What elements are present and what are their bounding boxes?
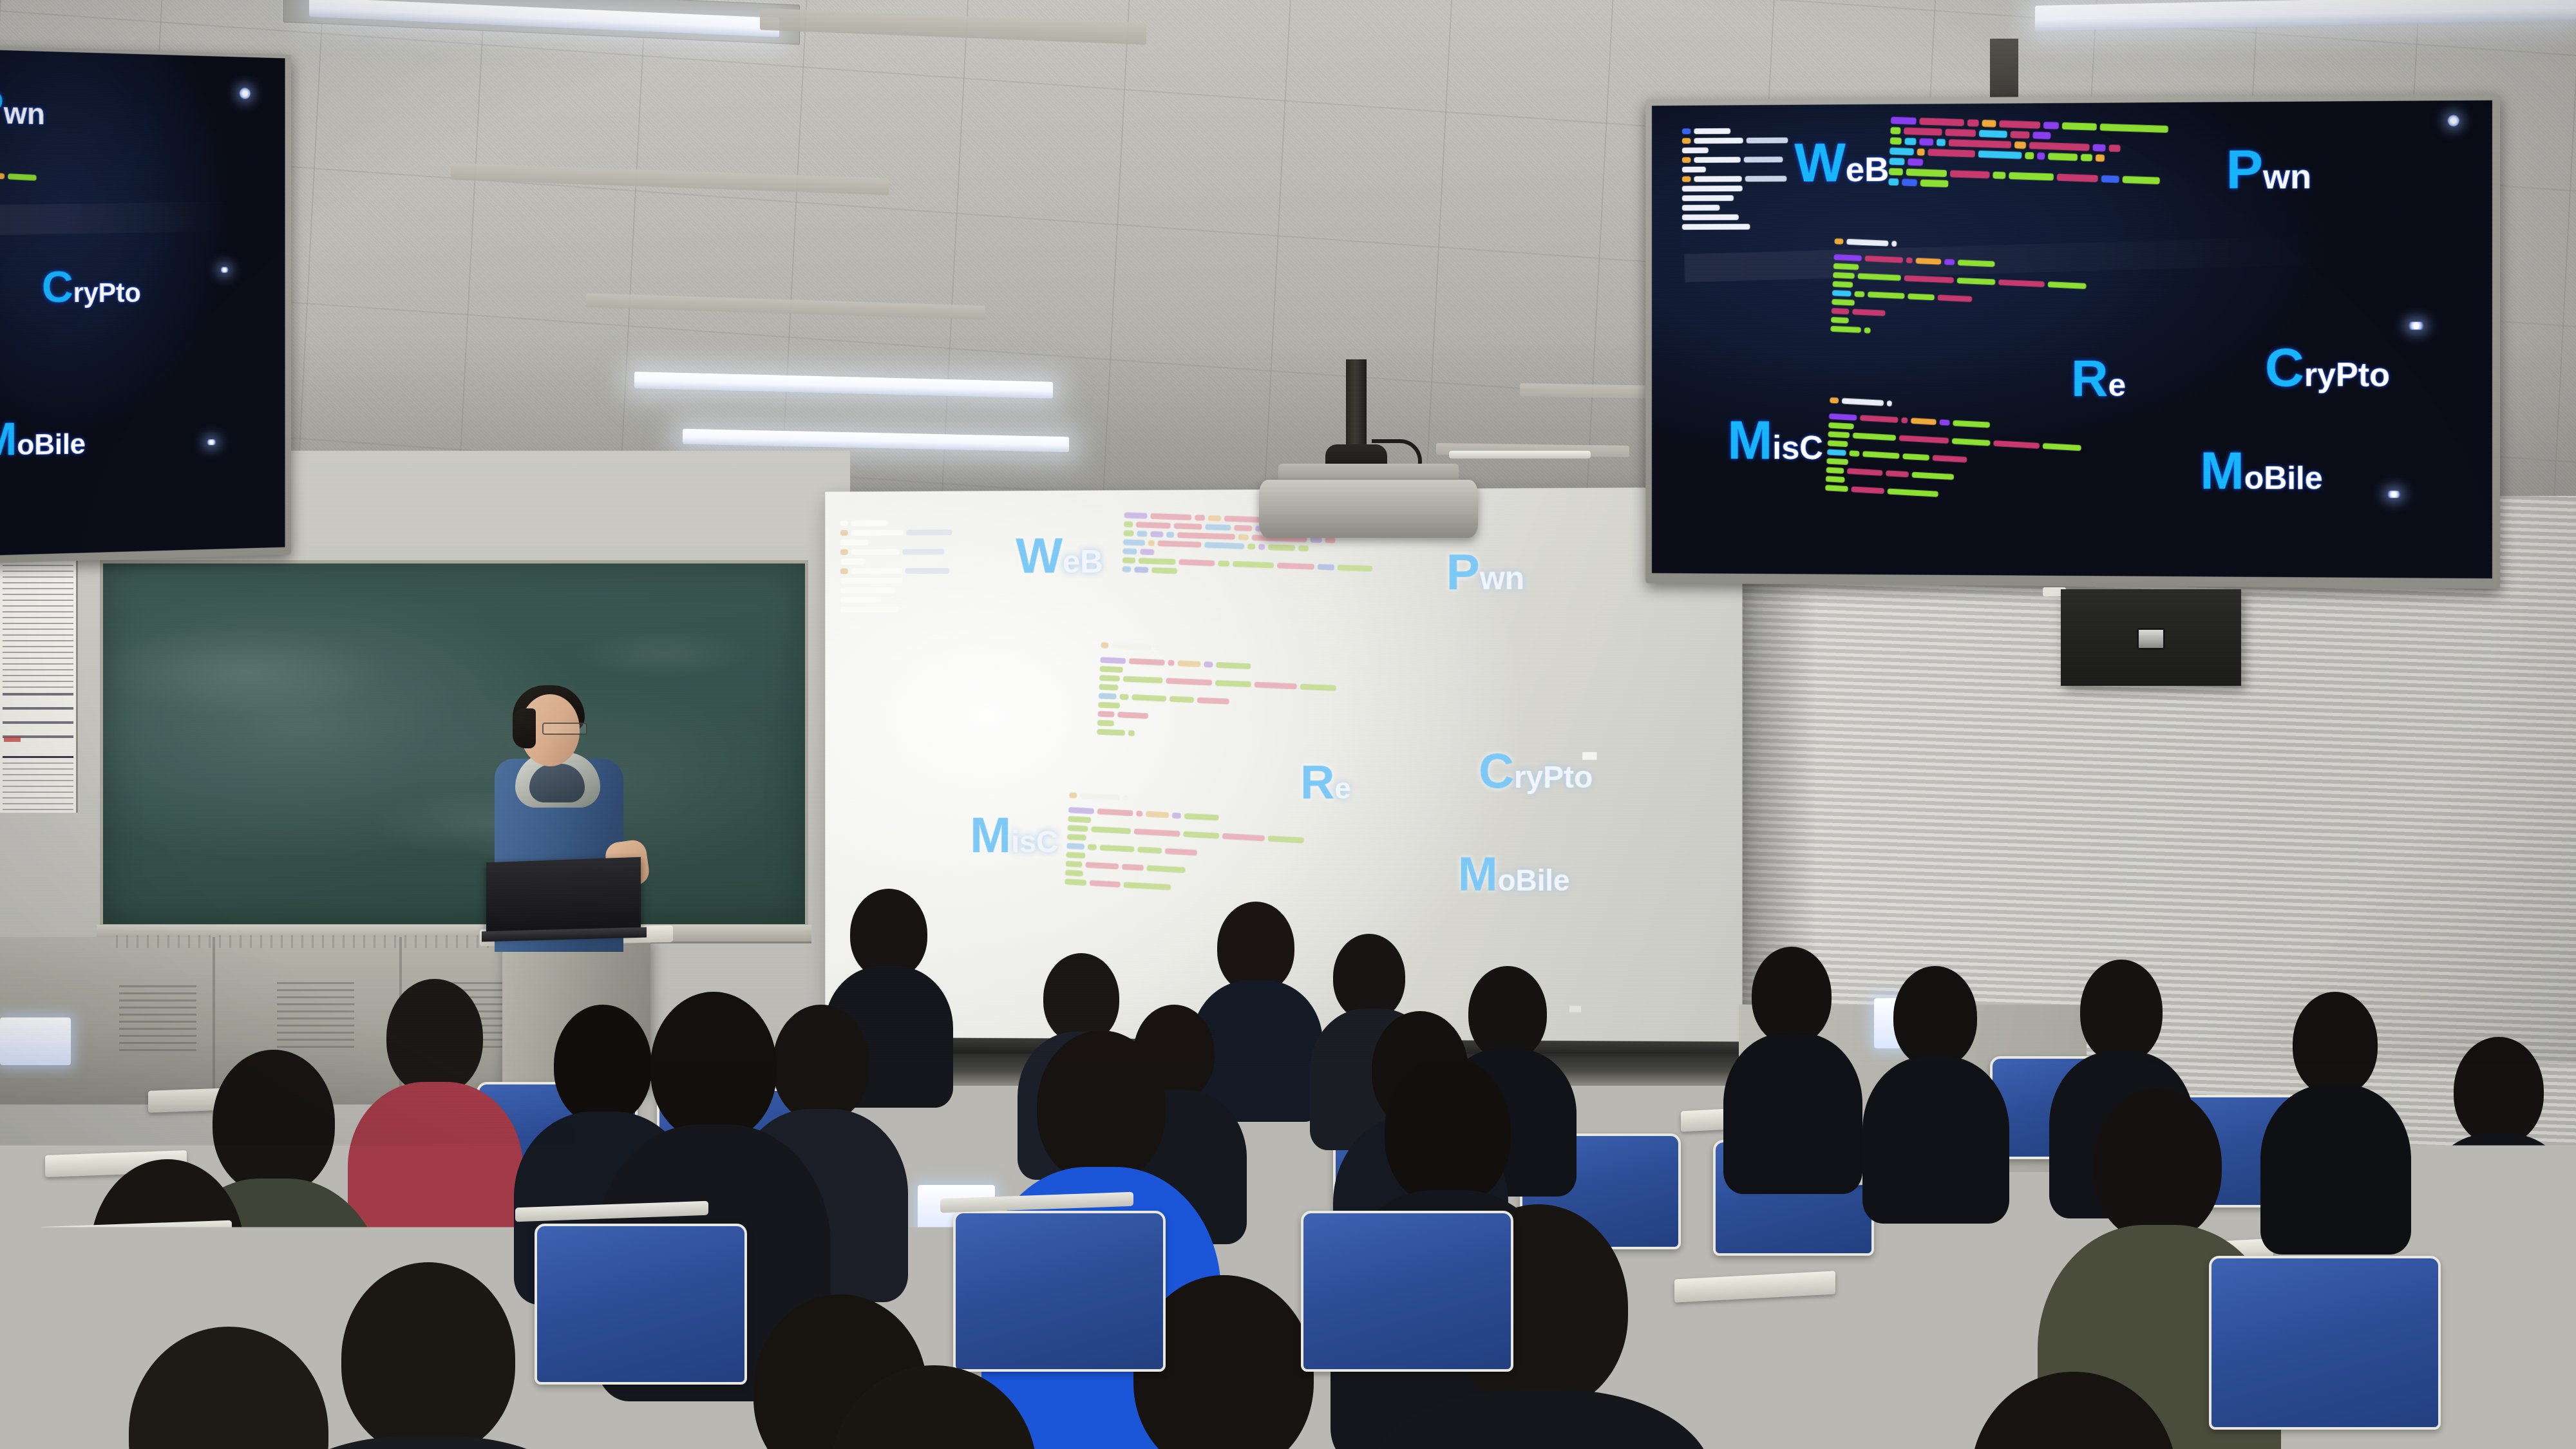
- poster-body-text-2: [3, 762, 73, 810]
- right-tv-cursor-mark-2: [2387, 491, 2400, 498]
- poster-body-text: [3, 559, 73, 688]
- left-tv-cursor-mark-2: [207, 439, 216, 445]
- slide-sidebar-list: [840, 520, 955, 616]
- right-tv-category-re: Re: [2071, 353, 2126, 404]
- right-tv-slide: WeB Pwn: [1652, 100, 2492, 578]
- list-item: [840, 597, 955, 603]
- slide-category-misc: MisC: [970, 810, 1058, 860]
- list-item: [840, 558, 955, 565]
- screen-highlight-dot: [240, 88, 251, 99]
- left-tv-code-fragment: [0, 171, 40, 184]
- list-item: [840, 587, 955, 594]
- front-rail: [116, 935, 528, 948]
- left-tv-category-pwn: Pwn: [0, 84, 45, 133]
- list-item: [1682, 223, 1791, 229]
- list-item: [840, 568, 955, 574]
- seat: [2209, 1256, 2441, 1430]
- slide-category-re: Re: [1300, 759, 1350, 806]
- list-item: [840, 549, 955, 555]
- left-tv-category-mobile: MoBile: [0, 415, 86, 462]
- desk-tablet: [1674, 1271, 1835, 1302]
- right-tv-code-block-2: [1830, 238, 2091, 346]
- left-tv-cursor-mark: [221, 267, 229, 273]
- right-tv-category-crypto: CryPto: [2265, 340, 2390, 395]
- right-tv-code-block-3: [1825, 397, 2087, 508]
- seat: [1301, 1211, 1513, 1372]
- right-tv-category-misc: MisC: [1727, 413, 1823, 468]
- right-tv-sidebar-list: [1682, 128, 1791, 234]
- right-tv-category-mobile: MoBile: [2200, 445, 2322, 498]
- ceiling-conduit: [1449, 451, 1591, 459]
- right-tv-bezel: WeB Pwn: [1645, 94, 2500, 589]
- left-tv-screen[interactable]: Pwn CryPto MoBile: [0, 50, 285, 556]
- left-tv-category-crypto: CryPto: [42, 265, 141, 309]
- left-tv-bezel: Pwn CryPto MoBile: [0, 46, 291, 563]
- list-item: [1682, 185, 1791, 192]
- cabinet-vent: [277, 982, 354, 1053]
- cabinet-vent: [119, 985, 196, 1056]
- screen-glare: [0, 201, 232, 235]
- list-item: [840, 529, 955, 536]
- seat: [535, 1224, 747, 1385]
- slide-category-web: WeB: [1016, 530, 1103, 580]
- audience-laptop-screen: [0, 1018, 71, 1065]
- seat: [953, 1211, 1166, 1372]
- right-tv-screen[interactable]: WeB Pwn: [1652, 100, 2492, 578]
- right-tv-highlight-dot: [2448, 115, 2459, 126]
- list-item: [840, 578, 955, 584]
- poster-divider: [3, 756, 73, 758]
- left-tv-slide: Pwn CryPto MoBile: [0, 50, 285, 556]
- list-item: [840, 539, 955, 545]
- glasses-icon: [542, 723, 587, 735]
- presenter-collar-shadow: [529, 764, 585, 802]
- slide-category-crypto: CryPto: [1479, 747, 1593, 796]
- slide-category-pwn: Pwn: [1446, 546, 1524, 597]
- list-item: [1682, 137, 1791, 144]
- chalkboard: [100, 560, 808, 927]
- podium-laptop-screen[interactable]: [486, 857, 641, 936]
- cursor-mark-2: [1569, 1006, 1581, 1012]
- right-tv-category-web: WeB: [1794, 135, 1889, 191]
- list-item: [1682, 147, 1791, 153]
- cabinet-seam: [213, 937, 215, 1104]
- right-tv-category-pwn: Pwn: [2226, 142, 2311, 198]
- list-item: [840, 520, 955, 526]
- presenter-hair-side: [513, 708, 536, 748]
- poster-red-mark: [4, 737, 21, 742]
- list-item: [1682, 128, 1791, 135]
- slide-category-mobile: MoBile: [1458, 850, 1570, 898]
- slide-code-block-2: [1097, 642, 1341, 748]
- list-item: [1682, 176, 1791, 182]
- list-item: [1682, 166, 1791, 173]
- slide-code-block-3: [1065, 792, 1309, 901]
- right-tv-code-block-1: [1888, 117, 2172, 198]
- ceiling-projector: [1259, 480, 1478, 538]
- list-item: [840, 607, 955, 612]
- list-item: [1682, 205, 1791, 211]
- list-item: [1682, 195, 1791, 202]
- speaker-cone-icon: [2137, 628, 2165, 650]
- classroom-scene: WeB Pwn: [0, 0, 2576, 1449]
- cursor-mark: [1582, 752, 1596, 760]
- wall-poster: [0, 555, 78, 813]
- right-tv-cursor-mark: [2409, 322, 2424, 330]
- list-item: [1682, 214, 1791, 220]
- list-item: [1682, 156, 1791, 163]
- chalk-dust: [103, 563, 805, 924]
